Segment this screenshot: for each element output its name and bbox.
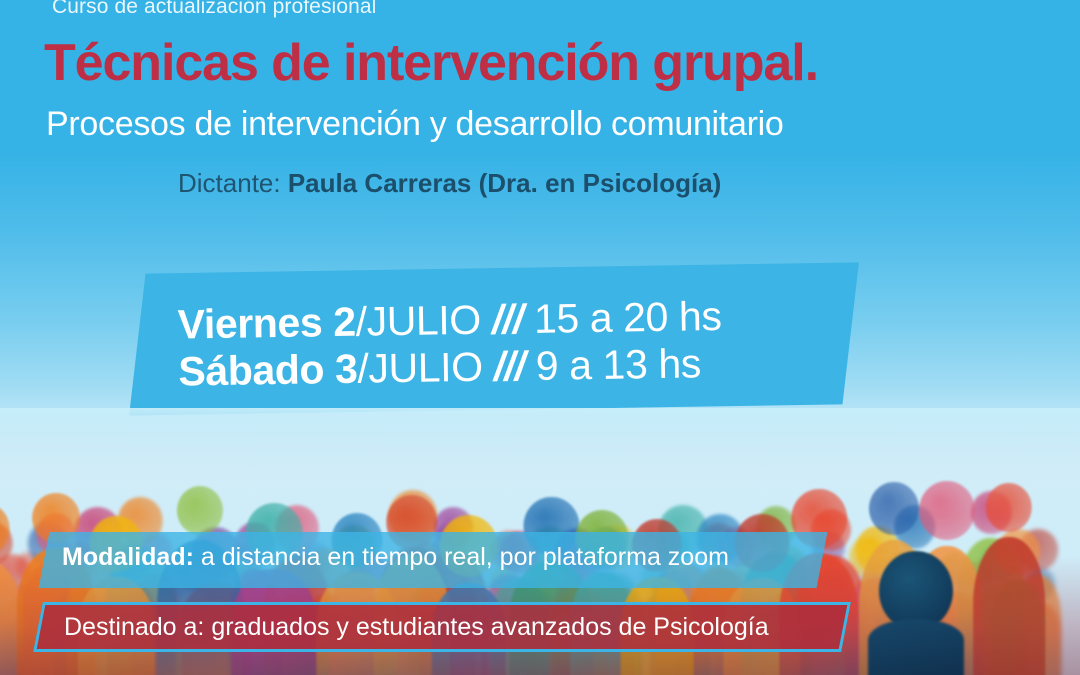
poster-subtitle: Procesos de intervención y desarrollo co…	[46, 105, 783, 144]
poster-title: Técnicas de intervención grupal.	[44, 33, 818, 93]
crowd-figure-head	[0, 503, 9, 555]
modality-value: a distancia en tiempo real, por platafor…	[194, 543, 729, 571]
modality-label: Modalidad:	[62, 543, 194, 571]
audience-text: Destinado a: graduados y estudiantes ava…	[64, 613, 769, 642]
speaker-label: Dictante:	[178, 168, 288, 198]
speaker-name: Paula Carreras (Dra. en Psicología)	[288, 168, 722, 198]
crowd-figure-head	[986, 483, 1033, 532]
schedule-separator-icon: ///	[491, 296, 523, 342]
schedule-month: /JULIO	[355, 297, 481, 345]
schedule-month: /JULIO	[357, 344, 483, 392]
schedule-time: 9 a 13 hs	[535, 340, 701, 389]
event-poster: Curso de actualización profesional Técni…	[0, 0, 1080, 675]
crowd-figure-body	[868, 619, 964, 675]
crowd-figure-body	[973, 537, 1045, 675]
crowd-figure-foreground	[868, 551, 964, 675]
crowd-figure	[973, 483, 1045, 675]
schedule-text: Viernes 2/JULIO /// 15 a 20 hs Sábado 3/…	[177, 291, 878, 396]
schedule-time: 15 a 20 hs	[534, 293, 722, 342]
speaker-line: Dictante: Paula Carreras (Dra. en Psicol…	[178, 168, 721, 199]
modality-text: Modalidad: a distancia en tiempo real, p…	[62, 543, 729, 572]
crowd-figure-head	[177, 486, 223, 535]
schedule-separator-icon: ///	[493, 343, 525, 389]
poster-kicker: Curso de actualización profesional	[52, 0, 376, 19]
crowd-figure-head	[919, 481, 975, 541]
schedule-day: Sábado 3	[178, 346, 358, 395]
schedule-day: Viernes 2	[177, 299, 356, 348]
